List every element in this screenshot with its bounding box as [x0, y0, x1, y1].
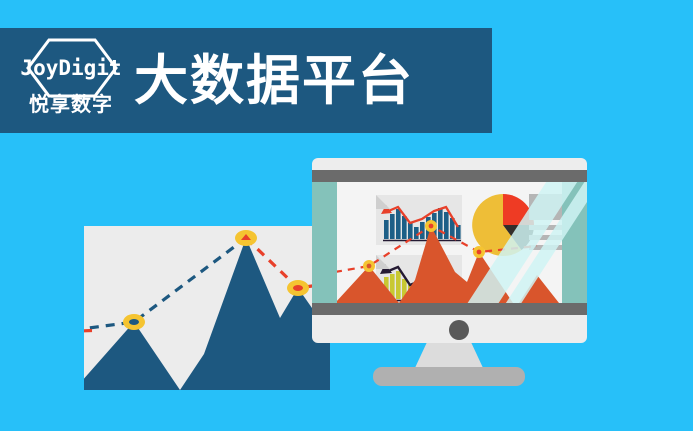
mountain-shape-blue	[84, 238, 330, 390]
left-mountain-panel	[84, 226, 330, 390]
mountain-shape-orange-small	[519, 275, 559, 303]
data-marker	[429, 224, 434, 229]
monitor-bottom-bar	[312, 303, 587, 315]
orange-mountain-graphic	[337, 220, 562, 303]
illustration-canvas: JoyDigit 悦享数字 大数据平台	[0, 0, 693, 431]
data-marker	[129, 319, 139, 325]
banner-title: 大数据平台	[134, 54, 414, 108]
brand-logo-latin-text: JoyDigit	[16, 58, 126, 79]
left-mountain-chart	[84, 226, 330, 390]
monitor-top-bar	[312, 170, 587, 182]
image-placeholder	[529, 194, 562, 220]
orange-mountain-chart[interactable]	[337, 220, 562, 303]
screen-side-panel-left	[312, 182, 337, 303]
data-marker	[477, 250, 482, 255]
data-marker	[293, 285, 303, 291]
trend-line-red-stub	[84, 331, 92, 332]
monitor-stand-base	[373, 367, 525, 386]
desktop-monitor	[312, 158, 587, 343]
screen-side-panel-right	[562, 182, 587, 303]
data-marker	[367, 264, 372, 269]
monitor-stand-neck	[414, 343, 484, 370]
monitor-screen	[312, 182, 587, 303]
brand-logo: JoyDigit 悦享数字	[16, 36, 126, 124]
header-banner: JoyDigit 悦享数字 大数据平台	[0, 28, 492, 133]
dashboard-content	[337, 182, 562, 303]
power-indicator[interactable]	[449, 320, 469, 340]
brand-logo-chinese-text: 悦享数字	[16, 94, 126, 114]
